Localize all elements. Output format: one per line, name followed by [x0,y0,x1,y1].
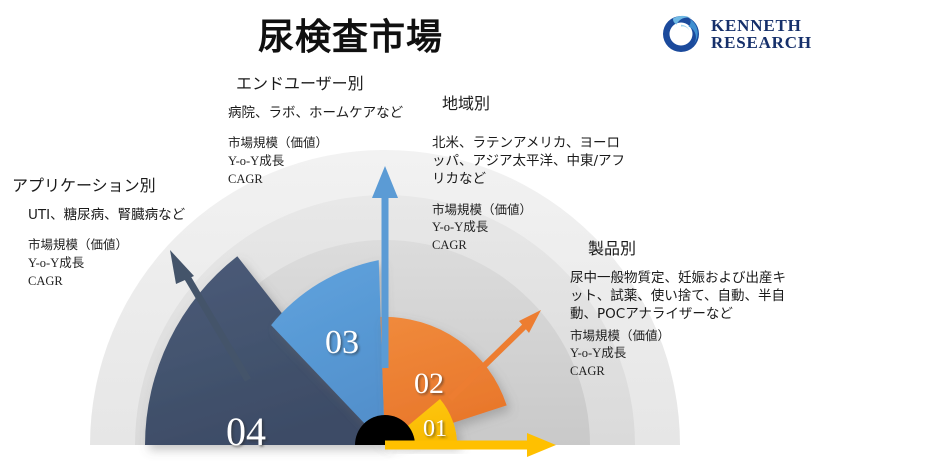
callout-product: 製品別 尿中一般物質定、妊娠および出産キット、試薬、使い捨て、自動、半自動、PO… [570,235,800,381]
callout-product-metrics: 市場規模（価値） Y-o-Y成長 CAGR [570,328,794,381]
callout-enduser-metrics: 市場規模（価値） Y-o-Y成長 CAGR [228,135,414,188]
callout-application-market-size: 市場規模（価値） [28,237,200,255]
callout-application-heading: アプリケーション別 [12,172,202,196]
brand-logo-line1: KENNETH [711,17,812,34]
infographic-root: 尿検査市場 KENNETH RESEARCH [0,0,940,465]
callout-enduser-heading: エンドユーザー別 [236,70,423,94]
callout-product-yoy: Y-o-Y成長 [570,345,794,363]
callout-region: 地域別 北米、ラテンアメリカ、ヨーロッパ、アジア太平洋、中東/アフリカなど 市場… [432,90,642,255]
callout-enduser: エンドユーザー別 病院、ラボ、ホームケアなど 市場規模（価値） Y-o-Y成長 … [228,70,423,188]
callout-application-metrics: 市場規模（価値） Y-o-Y成長 CAGR [28,237,200,290]
page-title: 尿検査市場 [258,8,443,60]
callout-application-body: UTI、糖尿病、腎臓病など 市場規模（価値） Y-o-Y成長 CAGR [28,206,200,290]
brand-logo-line2: RESEARCH [711,34,812,51]
kenneth-research-swirl-logo-icon [660,13,702,55]
callout-application-yoy: Y-o-Y成長 [28,255,200,273]
callout-region-market-size: 市場規模（価値） [432,202,632,220]
callout-product-description: 尿中一般物質定、妊娠および出産キット、試薬、使い捨て、自動、半自動、POCアナラ… [570,269,794,324]
callout-application-cagr: CAGR [28,273,200,291]
callout-region-heading: 地域別 [442,90,642,114]
callout-enduser-yoy: Y-o-Y成長 [228,153,414,171]
callout-enduser-market-size: 市場規模（価値） [228,135,414,153]
brand-logo: KENNETH RESEARCH [660,10,840,58]
chart-sector-01-label: 01 [423,416,447,442]
chart-sector-03-label: 03 [325,324,359,361]
callout-enduser-body: 病院、ラボ、ホームケアなど 市場規模（価値） Y-o-Y成長 CAGR [228,104,414,188]
callout-product-cagr: CAGR [570,363,794,381]
chart-sector-02-label: 02 [414,367,444,400]
callout-region-description: 北米、ラテンアメリカ、ヨーロッパ、アジア太平洋、中東/アフリカなど [432,134,632,189]
callout-product-market-size: 市場規模（価値） [570,328,794,346]
callout-enduser-description: 病院、ラボ、ホームケアなど [228,104,414,122]
callout-application-description: UTI、糖尿病、腎臓病など [28,206,200,224]
chart-sector-04-label: 04 [226,409,266,454]
callout-product-heading: 製品別 [588,235,800,259]
callout-enduser-cagr: CAGR [228,171,414,189]
callout-application: アプリケーション別 UTI、糖尿病、腎臓病など 市場規模（価値） Y-o-Y成長… [12,172,202,290]
callout-product-body: 尿中一般物質定、妊娠および出産キット、試薬、使い捨て、自動、半自動、POCアナラ… [570,269,794,381]
brand-logo-text: KENNETH RESEARCH [711,17,812,52]
